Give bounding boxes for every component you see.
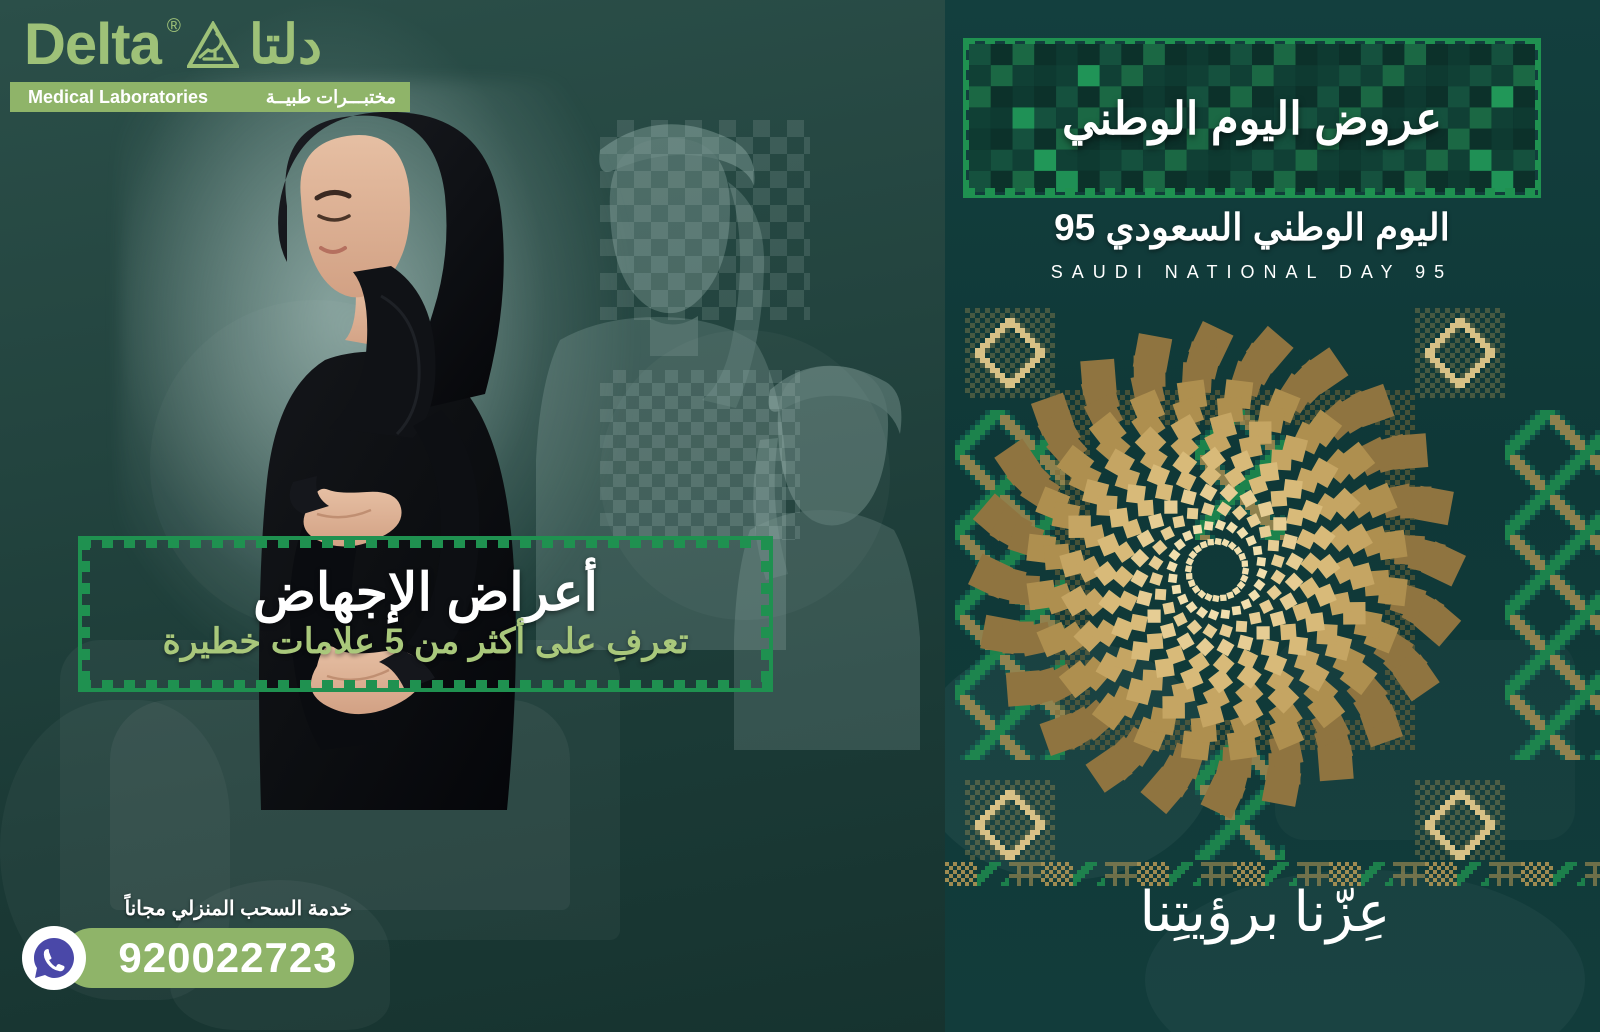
national-day-panel: عروض اليوم الوطني اليوم الوطني السعودي 9… [945, 0, 1600, 1032]
offers-banner: عروض اليوم الوطني [963, 38, 1541, 198]
logo-name-en: Delta [24, 16, 161, 74]
logo-tagline-ar: مختبـــرات طبيــة [266, 87, 396, 108]
contact-block[interactable]: خدمة السحب المنزلي مجاناً 920022723 [22, 896, 362, 992]
offers-banner-text: عروض اليوم الوطني [966, 41, 1538, 195]
ornament-zone [945, 300, 1600, 860]
whatsapp-icon [31, 935, 77, 981]
logo-wordmark-row: Delta ® دلتا [10, 12, 410, 78]
pregnant-woman-photo [205, 110, 625, 810]
logo-tagline-bar: Medical Laboratories مختبـــرات طبيــة [10, 82, 410, 112]
national-day-title-en: SAUDI NATIONAL DAY 95 [963, 262, 1541, 283]
headline-title: أعراض الإجهاض [253, 566, 598, 621]
microscope-triangle-icon [187, 21, 239, 69]
phone-pill[interactable]: 920022723 [62, 928, 354, 988]
logo-name-ar: دلتا [249, 18, 322, 72]
national-day-slogan: عِزّنا برؤيتِنا [945, 880, 1585, 945]
whatsapp-button[interactable] [22, 926, 86, 990]
poster-root: Delta ® دلتا Medical Laboratories مختبــ… [0, 0, 1600, 1032]
sadu-ornament-svg [945, 300, 1600, 860]
logo-tagline-en: Medical Laboratories [28, 87, 208, 108]
headline-subtitle: تعرفِ على أكثر من 5 علامات خطيرة [162, 623, 688, 662]
registered-mark-icon: ® [167, 16, 181, 38]
phone-row[interactable]: 920022723 [22, 926, 362, 992]
photo-scene: Delta ® دلتا Medical Laboratories مختبــ… [0, 0, 952, 1032]
home-service-label: خدمة السحب المنزلي مجاناً [22, 896, 362, 921]
headline-box: أعراض الإجهاض تعرفِ على أكثر من 5 علامات… [78, 536, 773, 692]
national-day-title-ar: اليوم الوطني السعودي 95 [963, 206, 1541, 249]
brand-logo[interactable]: Delta ® دلتا Medical Laboratories مختبــ… [10, 12, 410, 112]
phone-number: 920022723 [78, 934, 337, 982]
headline-content: أعراض الإجهاض تعرفِ على أكثر من 5 علامات… [82, 540, 769, 688]
